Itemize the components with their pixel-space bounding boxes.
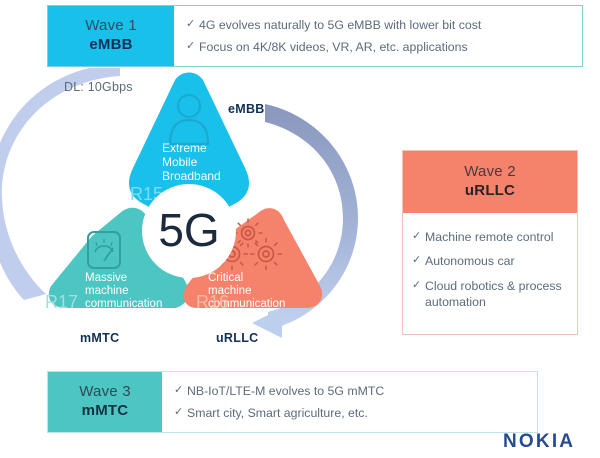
check-icon: ✓ <box>412 278 425 294</box>
segment-label-mmtc: mMTC <box>80 331 119 345</box>
wave-3-panel[interactable]: Wave 3 mMTC ✓ NB-IoT/LTE-M evolves to 5G… <box>47 371 538 433</box>
wave-1-bullet: ✓ Focus on 4K/8K videos, VR, AR, etc. ap… <box>186 39 572 55</box>
wave-2-bullet-text: Machine remote control <box>425 229 569 245</box>
wave-2-bullet-text: Cloud robotics & process automation <box>425 278 569 311</box>
check-icon: ✓ <box>186 39 199 55</box>
segment-mmtc-line2: machine <box>85 285 128 297</box>
nokia-logo: NOKIA <box>503 431 575 453</box>
wave-1-bullet: ✓ 4G evolves naturally to 5G eMBB with l… <box>186 17 572 33</box>
check-icon: ✓ <box>174 405 187 421</box>
wave-1-bullet-text: Focus on 4K/8K videos, VR, AR, etc. appl… <box>199 39 572 55</box>
wave-2-bullet: ✓ Cloud robotics & process automation <box>412 278 569 311</box>
check-icon: ✓ <box>412 253 425 269</box>
five-g-triangle-diagram: Extreme Mobile Broadband R15 Massive <box>0 68 400 368</box>
segment-mmtc-line1: Massive <box>85 272 127 284</box>
segment-label-urllc: uRLLC <box>216 331 258 345</box>
downlink-note: DL: 10Gbps <box>64 80 133 94</box>
wave-2-panel[interactable]: Wave 2 uRLLC ✓ Machine remote control ✓ … <box>402 150 578 335</box>
wave-2-bullet-text: Autonomous car <box>425 253 569 269</box>
wave-3-bullet-text: Smart city, Smart agriculture, etc. <box>187 405 527 421</box>
check-icon: ✓ <box>186 17 199 33</box>
five-g-label: 5G <box>158 204 219 256</box>
wave-1-name: eMBB <box>89 35 132 55</box>
check-icon: ✓ <box>412 229 425 245</box>
check-icon: ✓ <box>174 383 187 399</box>
wave-1-bullet-text: 4G evolves naturally to 5G eMBB with low… <box>199 17 572 33</box>
segment-urllc-line1: Critical <box>208 272 243 284</box>
segment-urllc-release: R16 <box>196 292 229 312</box>
wave-2-name: uRLLC <box>465 181 515 201</box>
wave-1-bullets: ✓ 4G evolves naturally to 5G eMBB with l… <box>174 6 582 66</box>
wave-3-number: Wave 3 <box>79 383 131 402</box>
wave-2-bullets: ✓ Machine remote control ✓ Autonomous ca… <box>403 213 577 334</box>
segment-embb-line1: Extreme <box>162 141 207 155</box>
segment-mmtc-release: R17 <box>45 292 78 312</box>
segment-label-embb: eMBB <box>228 102 265 116</box>
slide-canvas: Extreme Mobile Broadband R15 Massive <box>0 0 600 458</box>
segment-embb-line3: Broadband <box>162 169 221 183</box>
wave-3-header: Wave 3 mMTC <box>48 372 162 432</box>
wave-3-name: mMTC <box>82 401 129 421</box>
segment-embb-line2: Mobile <box>162 155 198 169</box>
wave-1-number: Wave 1 <box>85 17 137 36</box>
wave-1-header: Wave 1 eMBB <box>48 6 174 66</box>
five-g-center: 5G <box>142 184 236 278</box>
wave-3-bullet-text: NB-IoT/LTE-M evolves to 5G mMTC <box>187 383 527 399</box>
wave-3-bullet: ✓ Smart city, Smart agriculture, etc. <box>174 405 527 421</box>
wave-2-number: Wave 2 <box>464 163 516 182</box>
wave-3-bullets: ✓ NB-IoT/LTE-M evolves to 5G mMTC ✓ Smar… <box>162 372 537 432</box>
wave-2-header: Wave 2 uRLLC <box>403 151 577 213</box>
segment-mmtc-line3: communication <box>85 298 162 310</box>
wave-2-bullet: ✓ Machine remote control <box>412 229 569 245</box>
wave-1-panel[interactable]: Wave 1 eMBB ✓ 4G evolves naturally to 5G… <box>47 5 583 67</box>
wave-2-bullet: ✓ Autonomous car <box>412 253 569 269</box>
wave-3-bullet: ✓ NB-IoT/LTE-M evolves to 5G mMTC <box>174 383 527 399</box>
